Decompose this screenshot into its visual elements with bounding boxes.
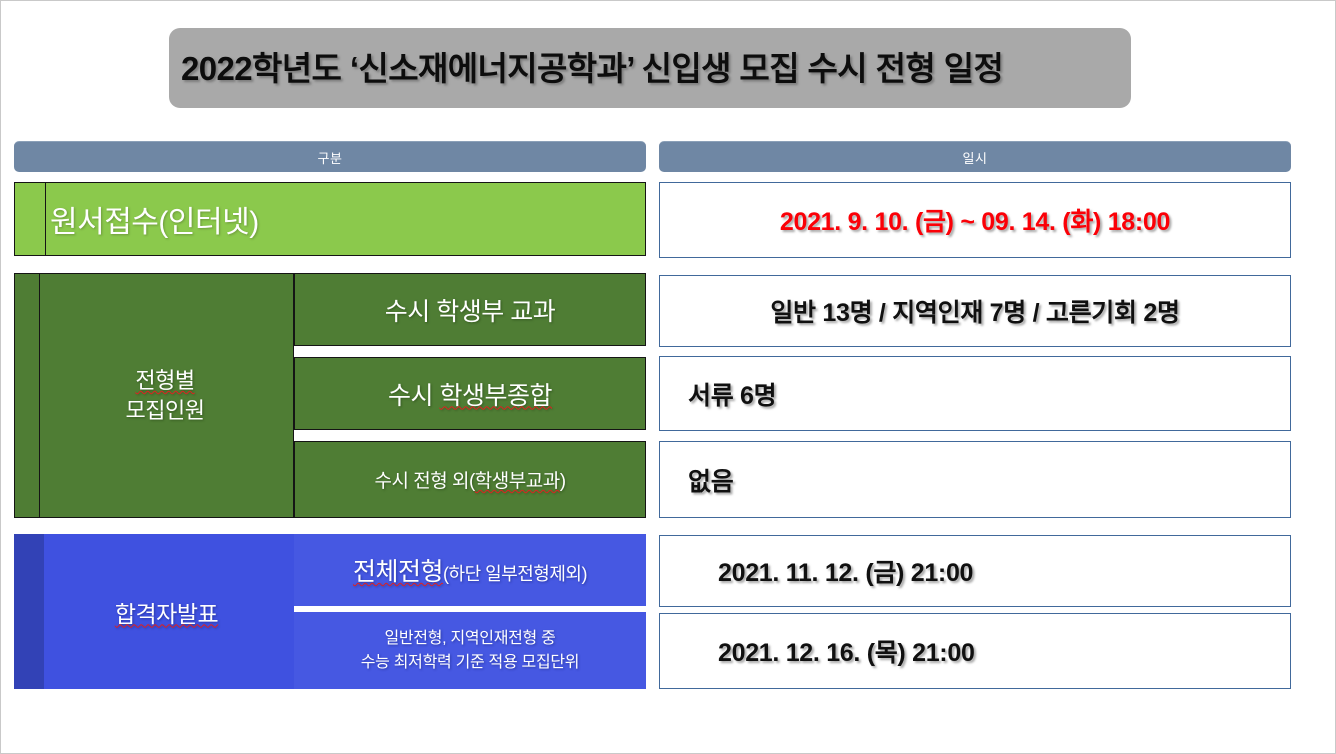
row-results-label-text: 합격자발표 <box>115 601 218 627</box>
row-application-date-cell: 2021. 9. 10. (금) ~ 09. 14. (화) 18:00 <box>659 182 1291 258</box>
column-header-category: 구분 <box>14 141 646 172</box>
row-results-subrow-1-label-note: (하단 일부전형제외) <box>443 564 587 584</box>
row-application-date: 2021. 9. 10. (금) ~ 09. 14. (화) 18:00 <box>780 202 1170 238</box>
row-quota-label-line2: 모집인원 <box>126 398 205 423</box>
row-quota-subrow-2-label-cell: 수시 학생부종합 <box>294 357 646 430</box>
row-quota-subrow-2-value: 서류 6명 <box>688 376 776 412</box>
row-results-subrow-1-value-cell: 2021. 11. 12. (금) 21:00 <box>659 535 1291 607</box>
row-results-subrow-2-value: 2021. 12. 16. (목) 21:00 <box>718 633 975 669</box>
row-results-subrow-1-label-main: 전체전형 <box>353 558 443 586</box>
row-quota-subrow-3-label-tail: ) <box>560 471 566 492</box>
row-quota-label-cell: 전형별 모집인원 <box>14 273 294 518</box>
slide-title-box: 2022학년도 ‘신소재에너지공학과’ 신입생 모집 수시 전형 일정 <box>169 28 1131 108</box>
row-application-accent-divider <box>45 182 46 256</box>
row-results-label-cell: 합격자발표 <box>14 534 294 689</box>
row-quota-subrow-2-label-plain: 수시 <box>388 382 439 410</box>
row-results-subrow-1-label: 전체전형(하단 일부전형제외) <box>353 552 587 588</box>
row-quota-subrow-3-label: 수시 전형 외(학생부교과) <box>374 466 565 493</box>
row-quota-subrow-2-label-flagged: 학생부종합 <box>439 382 552 410</box>
row-quota-subrow-3-label-flagged: 학생부교과 <box>475 471 560 492</box>
row-quota-accent-divider <box>39 273 40 518</box>
slide-canvas: 2022학년도 ‘신소재에너지공학과’ 신입생 모집 수시 전형 일정 구분 일… <box>0 0 1336 754</box>
row-results-subrow-1-value: 2021. 11. 12. (금) 21:00 <box>718 553 973 589</box>
row-results-subrow-2-label-cell: 일반전형, 지역인재전형 중 수능 최저학력 기준 적용 모집단위 <box>294 612 646 689</box>
row-results-subrow-1-label-cell: 전체전형(하단 일부전형제외) <box>294 534 646 606</box>
row-quota-subrow-1-value: 일반 13명 / 지역인재 7명 / 고른기회 2명 <box>770 293 1179 329</box>
row-results-subrow-2-label-line1: 일반전형, 지역인재전형 중 <box>384 630 555 647</box>
column-header-datetime: 일시 <box>659 141 1291 172</box>
row-quota-subrow-3-value-cell: 없음 <box>659 441 1291 518</box>
page-title: 2022학년도 ‘신소재에너지공학과’ 신입생 모집 수시 전형 일정 <box>181 42 1096 90</box>
row-quota-subrow-1-label-cell: 수시 학생부 교과 <box>294 273 646 346</box>
row-results-subrow-2-label: 일반전형, 지역인재전형 중 수능 최저학력 기준 적용 모집단위 <box>361 627 579 673</box>
row-quota-subrow-3-label-plain: 수시 전형 외( <box>374 471 474 492</box>
row-quota-subrow-2-label: 수시 학생부종합 <box>388 376 552 412</box>
row-quota-subrow-3-label-cell: 수시 전형 외(학생부교과) <box>294 441 646 518</box>
row-quota-subrow-2-value-cell: 서류 6명 <box>659 356 1291 431</box>
row-quota-subrow-1-label: 수시 학생부 교과 <box>385 292 555 328</box>
column-header-category-label: 구분 <box>318 148 343 167</box>
row-quota-label-line1: 전형별 <box>135 368 194 393</box>
row-application-label-cell: 원서접수(인터넷) <box>14 182 646 256</box>
row-quota-label: 전형별 모집인원 <box>126 366 205 425</box>
row-results-subrow-2-label-line2: 수능 최저학력 기준 적용 모집단위 <box>361 654 579 671</box>
row-results-subrow-2-value-cell: 2021. 12. 16. (목) 21:00 <box>659 613 1291 689</box>
row-application-label: 원서접수(인터넷) <box>50 197 259 241</box>
row-quota-subrow-1-value-cell: 일반 13명 / 지역인재 7명 / 고른기회 2명 <box>659 275 1291 347</box>
row-quota-subrow-3-value: 없음 <box>688 462 733 498</box>
column-header-datetime-label: 일시 <box>963 148 988 167</box>
row-results-accent-bar <box>14 534 44 689</box>
row-results-label: 합격자발표 <box>115 595 218 629</box>
